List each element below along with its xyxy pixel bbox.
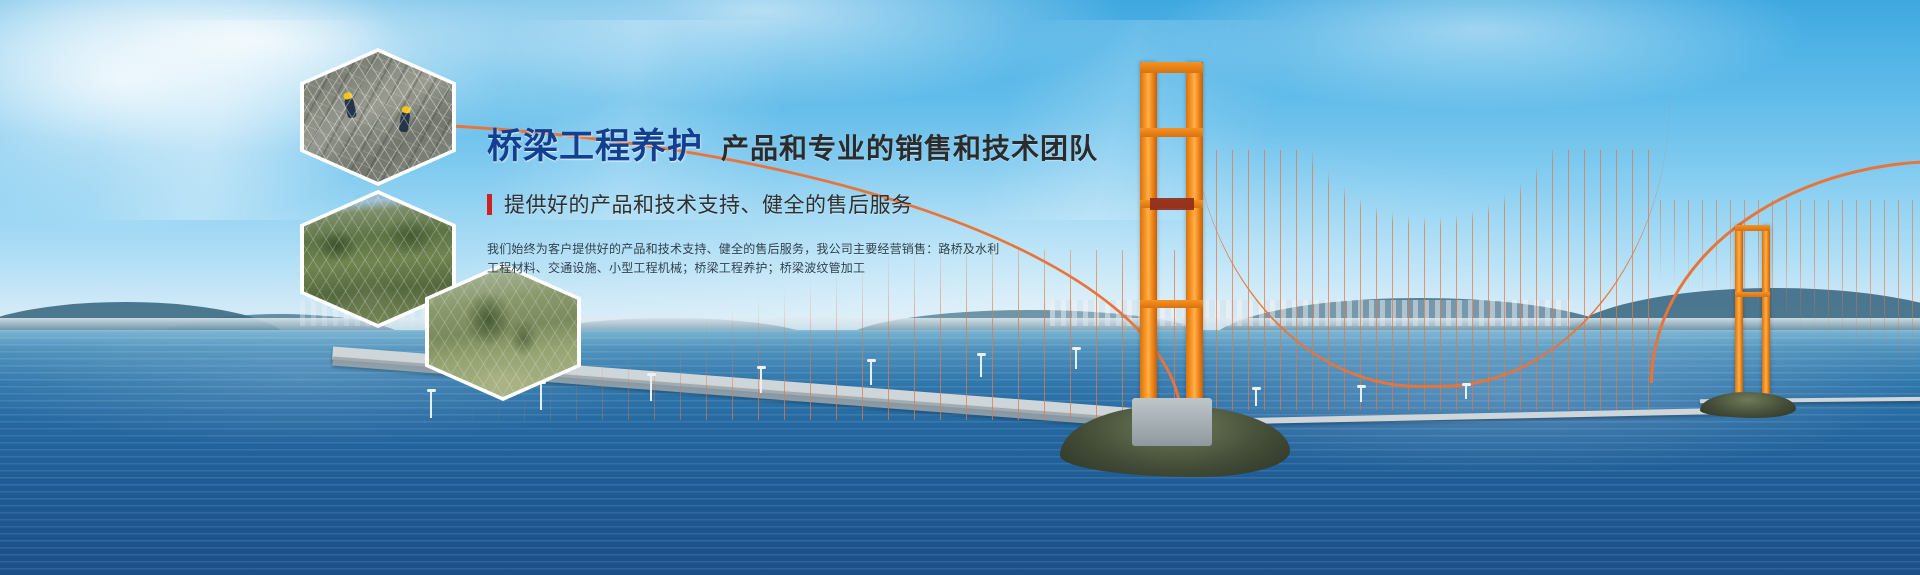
description-line-2: 工程材料、交通设施、小型工程机械；桥梁工程养护；桥梁波纹管加工 <box>487 259 1047 278</box>
bridge-pier-base <box>1132 398 1212 446</box>
accent-bar <box>487 194 492 215</box>
protection-mesh-overlay-3 <box>429 267 577 397</box>
headline-sub-title: 产品和专业的销售和技术团队 <box>721 127 1098 167</box>
far-tower-crossbeam-top <box>1735 225 1770 231</box>
headline-main-title: 桥梁工程养护 <box>487 118 703 169</box>
subheading-row: 提供好的产品和技术支持、健全的售后服务 <box>487 189 1047 219</box>
description-line-1: 我们始终为客户提供好的产品和技术支持、健全的售后服务，我公司主要经营销售：路桥及… <box>487 240 1047 259</box>
deck-lamp <box>1360 388 1362 402</box>
photo-hex-1 <box>304 52 452 182</box>
subheading-text: 提供好的产品和技术支持、健全的售后服务 <box>504 189 913 219</box>
bridge-tower-near-left <box>1140 62 1157 422</box>
deck-lamp <box>1075 350 1077 369</box>
far-tower-crossbeam-mid <box>1735 292 1770 297</box>
bridge-deck-main <box>1195 408 1725 425</box>
tower-sign <box>1150 198 1194 210</box>
photo-hex-3 <box>429 267 577 397</box>
suspension-bridge <box>0 0 1920 575</box>
tower-crossbeam-upper <box>1140 128 1203 137</box>
hanger-ropes-right <box>1660 200 1920 400</box>
bridge-tower-far-right <box>1762 225 1770 403</box>
tower-crossbeam-lower <box>1140 300 1203 308</box>
description-paragraph: 我们始终为客户提供好的产品和技术支持、健全的售后服务，我公司主要经营销售：路桥及… <box>487 240 1047 278</box>
headline-row: 桥梁工程养护 产品和专业的销售和技术团队 <box>487 118 1047 169</box>
deck-lamp <box>540 384 542 410</box>
banner-copy: 桥梁工程养护 产品和专业的销售和技术团队 提供好的产品和技术支持、健全的售后服务… <box>487 118 1047 278</box>
deck-lamp <box>430 392 432 418</box>
protection-mesh-overlay-1 <box>304 52 452 182</box>
deck-lamp <box>1465 386 1467 399</box>
bridge-tower-far-left <box>1735 225 1743 405</box>
deck-lamp <box>1255 390 1257 406</box>
tower-crossbeam-top <box>1140 62 1203 73</box>
hero-banner: 桥梁工程养护 产品和专业的销售和技术团队 提供好的产品和技术支持、健全的售后服务… <box>0 0 1920 575</box>
hanger-ropes-center <box>1200 150 1660 410</box>
deck-lamp <box>650 376 652 401</box>
deck-lamp <box>870 362 872 385</box>
bridge-tower-near-right <box>1186 62 1203 417</box>
deck-lamp <box>760 369 762 393</box>
deck-lamp <box>980 356 982 377</box>
